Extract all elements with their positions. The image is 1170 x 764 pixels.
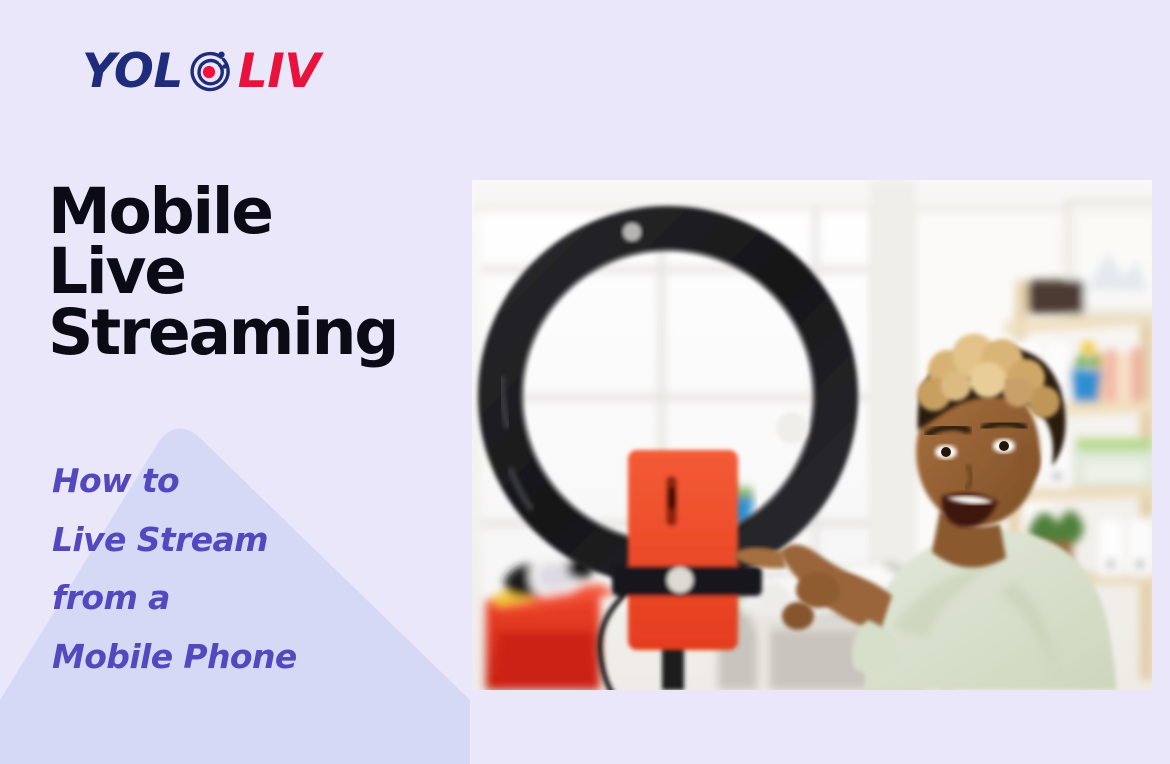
logo-text-liv: LIV (238, 48, 320, 95)
live-target-lens-icon (185, 46, 235, 96)
hero-photo-illustration (472, 180, 1152, 690)
headline-title: Mobile Live Streaming (48, 182, 468, 363)
subheadline-text: How to Live Stream from a Mobile Phone (52, 452, 452, 687)
poster-canvas: YOL LIV Mobile Live Streaming How to Liv… (0, 0, 1170, 764)
hero-photo (472, 180, 1152, 690)
brand-logo[interactable]: YOL LIV (82, 42, 320, 100)
logo-text-yolo: YOL (82, 48, 183, 95)
